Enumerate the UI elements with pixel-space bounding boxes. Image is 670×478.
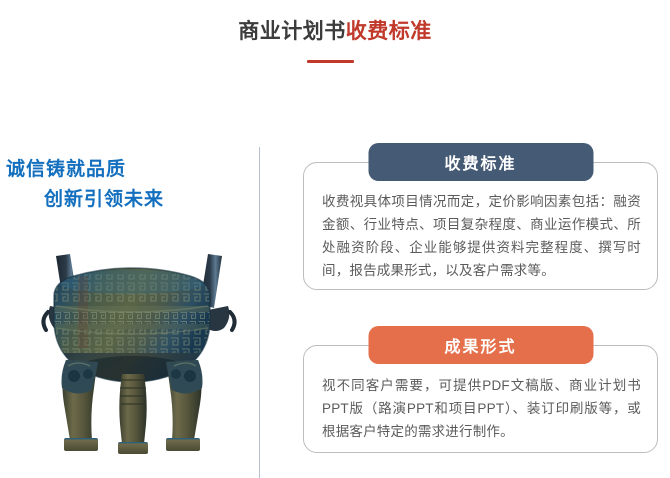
- page-title-primary: 商业计划书: [238, 20, 346, 43]
- page-title-accent: 收费标准: [346, 20, 432, 43]
- vertical-divider: [259, 147, 260, 478]
- slogan-line-1: 诚信铸就品质: [0, 155, 250, 185]
- bronze-ding-icon: [26, 248, 238, 458]
- bronze-ding-image: [26, 248, 238, 458]
- ding-leg-right: [166, 360, 203, 451]
- info-card-deliverables: 成果形式 视不同客户需要，可提供PDF文稿版、商业计划书PPT版（路演PPT和项…: [303, 345, 658, 453]
- card-heading-pricing: 收费标准: [368, 143, 593, 181]
- company-slogan: 诚信铸就品质 创新引领未来: [0, 155, 250, 215]
- slogan-line-2: 创新引领未来: [0, 185, 250, 215]
- info-card-pricing: 收费标准 收费视具体项目情况而定，定价影响因素包括：融资金额、行业特点、项目复杂…: [303, 162, 658, 290]
- page-title: 商业计划书收费标准: [0, 18, 670, 46]
- card-heading-deliverables: 成果形式: [368, 326, 593, 364]
- ding-leg-center: [118, 374, 148, 454]
- ding-leg-left: [62, 360, 99, 451]
- title-underline-rule: [307, 60, 354, 63]
